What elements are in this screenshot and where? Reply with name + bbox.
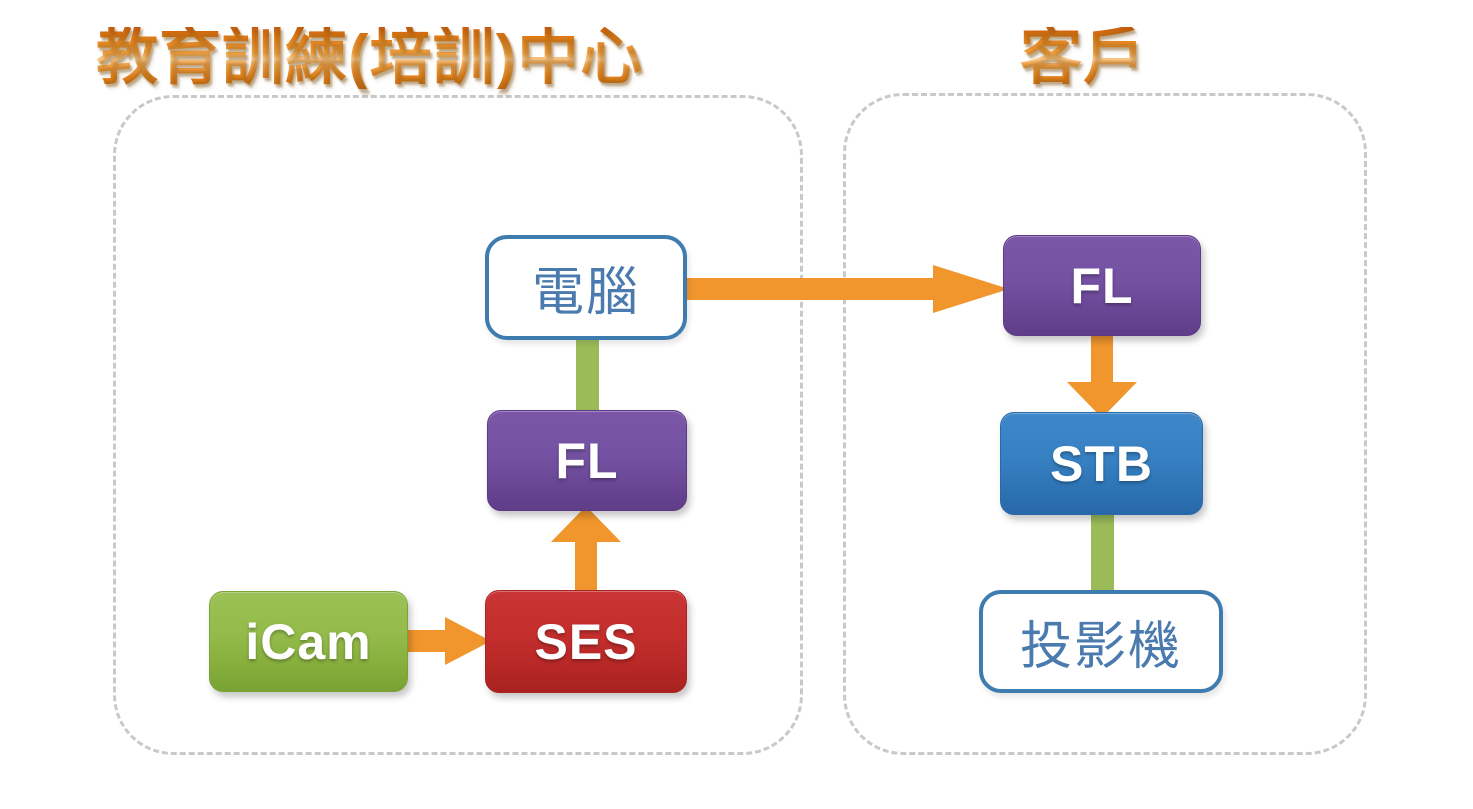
node-ses[interactable]: SES [485,590,687,693]
zone-title-training-center: 教育訓練(培訓)中心 [96,27,643,89]
connector-ses-to-fl-left [551,506,621,594]
node-fl-customer-label: FL [1070,257,1133,315]
connector-computer-to-fl-left [576,335,599,417]
node-icam[interactable]: iCam [209,591,408,692]
node-fl-customer[interactable]: FL [1003,235,1201,336]
connector-fl-right-to-stb [1067,332,1137,418]
diagram-canvas: 教育訓練(培訓)中心 客戶 電腦 FL iCam SES FL [0,0,1473,809]
connector-computer-to-fl-right [683,265,1009,313]
connector-stb-to-projector [1091,510,1114,594]
node-projector[interactable]: 投影機 [979,590,1223,693]
zone-title-customer: 客戶 [1020,27,1146,89]
node-stb-label: STB [1050,435,1153,493]
node-icam-label: iCam [245,613,371,671]
node-stb[interactable]: STB [1000,412,1203,515]
node-computer[interactable]: 電腦 [485,235,687,340]
node-ses-label: SES [534,613,637,671]
node-computer-label: 電腦 [532,250,640,325]
node-projector-label: 投影機 [1020,604,1182,679]
node-fl-training-label: FL [555,432,618,490]
connector-icam-to-ses [403,617,491,665]
node-fl-training[interactable]: FL [487,410,687,511]
